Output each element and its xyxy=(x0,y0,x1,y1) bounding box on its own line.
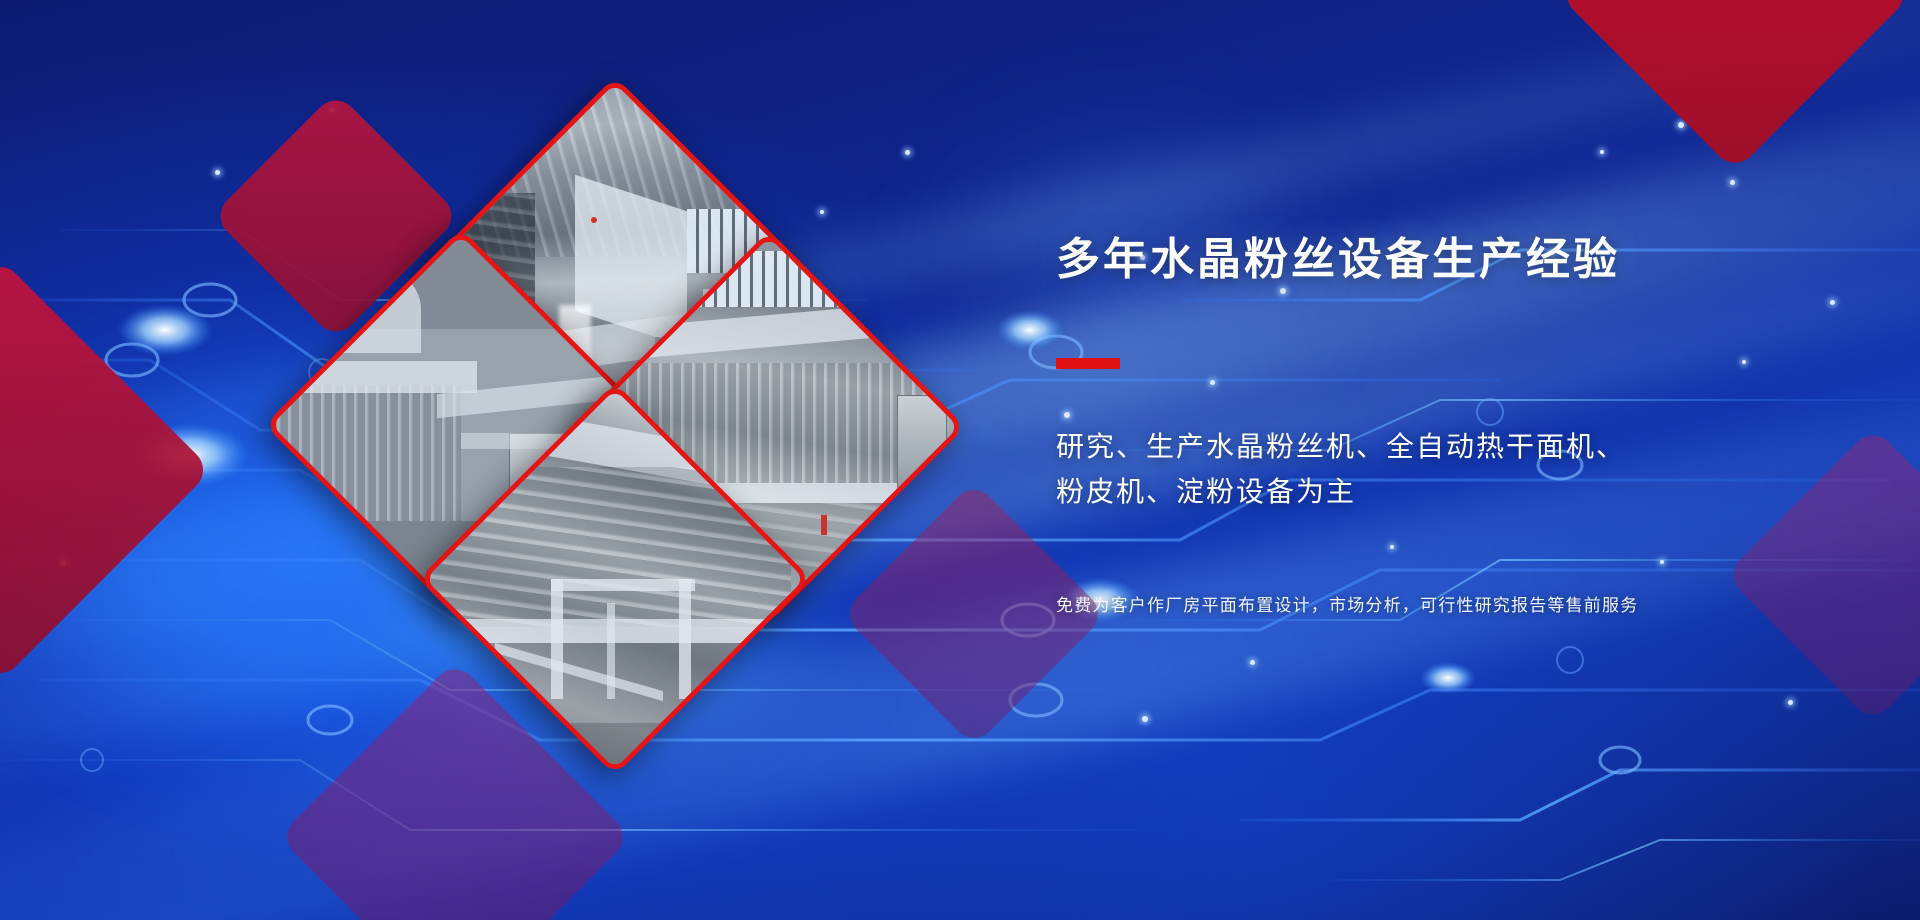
banner-copy: 多年水晶粉丝设备生产经验 研究、生产水晶粉丝机、全自动热干面机、 粉皮机、淀粉设… xyxy=(1056,236,1876,284)
sparkle-dot xyxy=(60,560,66,566)
crimson-diamond-left-edge xyxy=(0,258,212,682)
sparkle-dot xyxy=(1390,545,1394,549)
page-title: 多年水晶粉丝设备生产经验 xyxy=(1056,236,1876,284)
sparkle-dot xyxy=(1210,380,1215,385)
sparkle-dot xyxy=(330,108,334,112)
sparkle-dot xyxy=(1660,560,1664,564)
banner-subtitle: 研究、生产水晶粉丝机、全自动热干面机、 粉皮机、淀粉设备为主 xyxy=(1056,424,1816,515)
subtitle-line-1: 研究、生产水晶粉丝机、全自动热干面机、 xyxy=(1056,424,1816,469)
crimson-diamond-top-right xyxy=(1558,0,1912,172)
sparkle-dot xyxy=(1830,300,1835,305)
sparkle-dot xyxy=(1280,288,1286,294)
sparkle-dot xyxy=(1730,180,1735,185)
subtitle-line-2: 粉皮机、淀粉设备为主 xyxy=(1056,469,1816,514)
sparkle-dot xyxy=(1742,360,1746,364)
photo-collage xyxy=(300,128,920,748)
sparkle-dot xyxy=(1142,716,1148,722)
sparkle-dot xyxy=(215,170,220,175)
sparkle-dot xyxy=(1678,122,1684,128)
hero-banner: 多年水晶粉丝设备生产经验 研究、生产水晶粉丝机、全自动热干面机、 粉皮机、淀粉设… xyxy=(0,0,1920,920)
sparkle-dot xyxy=(1600,150,1604,154)
accent-rule xyxy=(1056,358,1120,369)
sparkle-dot xyxy=(1788,700,1793,705)
sparkle-dot xyxy=(1064,412,1070,418)
sparkle-dot xyxy=(1250,660,1255,665)
banner-service-note: 免费为客户作厂房平面布置设计，市场分析，可行性研究报告等售前服务 xyxy=(1056,591,1638,616)
